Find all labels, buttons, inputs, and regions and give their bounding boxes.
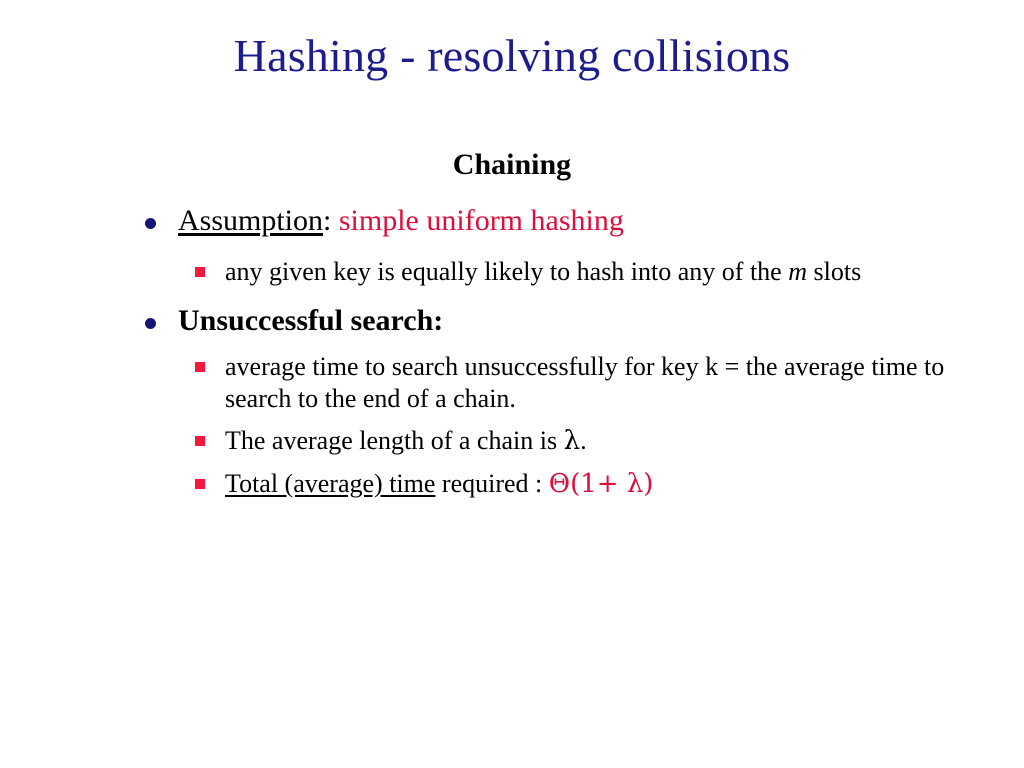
bullet-square-icon bbox=[195, 479, 205, 489]
section-subheading: Chaining bbox=[0, 148, 1024, 182]
sub-bullet-label-total-average-time: Total (average) time bbox=[225, 469, 435, 498]
sub-bullet-text-part1: any given key is equally likely to hash … bbox=[225, 257, 788, 286]
complexity-formula-theta: Θ(1+ λ) bbox=[549, 469, 654, 499]
sub-bullet-text-part2: slots bbox=[807, 257, 861, 286]
bullet-emphasis-simple-uniform-hashing: simple uniform hashing bbox=[339, 204, 624, 237]
bullet-label-assumption: Assumption bbox=[178, 204, 323, 237]
lambda-symbol: λ bbox=[564, 426, 580, 456]
sub-bullet-italic-m: m bbox=[788, 257, 807, 286]
bullet-square-icon bbox=[195, 267, 205, 277]
bullet-separator-colon: : bbox=[323, 204, 331, 237]
sub-bullet-period: . bbox=[580, 426, 587, 455]
bullet-square-icon bbox=[195, 436, 205, 446]
bullet-level1-assumption: Assumption: simple uniform hashing bbox=[0, 203, 1024, 238]
bullet-level1-unsuccessful-search: Unsuccessful search: bbox=[0, 303, 1024, 338]
sub-bullet-text-required: required : bbox=[435, 469, 548, 498]
bullet-dot-icon bbox=[145, 218, 156, 229]
sub-bullet-text-average-time: average time to search unsuccessfully fo… bbox=[225, 352, 944, 412]
page-title: Hashing - resolving collisions bbox=[0, 32, 1024, 80]
sub-bullet-text-chain-length: The average length of a chain is bbox=[225, 426, 564, 455]
slide-body: Assumption: simple uniform hashing any g… bbox=[0, 203, 1024, 503]
bullet-level2-average-time: average time to search unsuccessfully fo… bbox=[0, 351, 1024, 413]
bullet-level2-total-average-time: Total (average) time required : Θ(1+ λ) bbox=[0, 468, 1024, 500]
bullet-label-unsuccessful-search: Unsuccessful search: bbox=[178, 304, 443, 337]
bullet-level2-any-given-key: any given key is equally likely to hash … bbox=[0, 256, 1024, 287]
slide-canvas: Hashing - resolving collisions Chaining … bbox=[0, 0, 1024, 768]
bullet-dot-icon bbox=[145, 318, 156, 329]
bullet-square-icon bbox=[195, 362, 205, 372]
bullet-level2-chain-length: The average length of a chain is λ. bbox=[0, 425, 1024, 457]
